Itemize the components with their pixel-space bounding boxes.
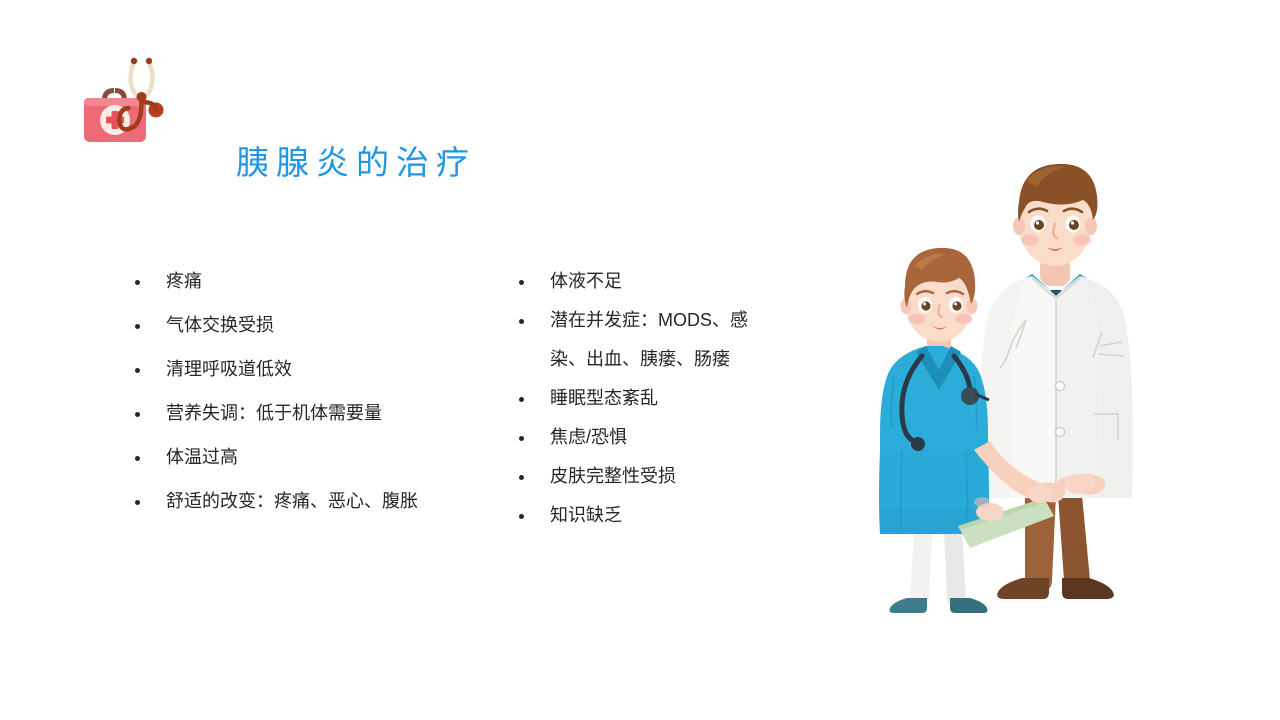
- right-bullet-list: 体液不足 潜在并发症：MODS、感 染、出血、胰瘘、肠瘘 睡眠型态紊乱 焦虑/恐…: [512, 262, 812, 535]
- list-item-line-2: 染、出血、胰瘘、肠瘘: [550, 340, 812, 379]
- list-item: 皮肤完整性受损: [512, 457, 812, 496]
- list-item: 气体交换受损: [128, 306, 498, 345]
- list-item: 体温过高: [128, 438, 498, 477]
- list-item: 清理呼吸道低效: [128, 350, 498, 389]
- list-item: 知识缺乏: [512, 496, 812, 535]
- slide-header: 胰腺炎的治疗: [72, 50, 592, 160]
- header-icon-group: [72, 50, 192, 150]
- list-item-label: 疼痛: [166, 262, 498, 301]
- left-column: 疼痛 气体交换受损 清理呼吸道低效 营养失调：低于机体需要量 体温过高 舒适的改…: [128, 262, 498, 526]
- list-item-label: 舒适的改变：疼痛、恶心、腹胀: [166, 482, 498, 521]
- header-icons-svg: [72, 50, 192, 150]
- list-item-label: 睡眠型态紊乱: [550, 379, 812, 418]
- list-item: 舒适的改变：疼痛、恶心、腹胀: [128, 482, 498, 521]
- list-item: 焦虑/恐惧: [512, 418, 812, 457]
- coat-button: [1055, 381, 1064, 390]
- slide-root: 胰腺炎的治疗 疼痛 气体交换受损 清理呼吸道低效 营养失调：低于机体需要量 体温…: [0, 0, 1280, 720]
- list-item-label: 清理呼吸道低效: [166, 350, 498, 389]
- doctor-and-nurse-illustration: [862, 150, 1152, 620]
- list-item-label: 营养失调：低于机体需要量: [166, 394, 498, 433]
- list-item: 睡眠型态紊乱: [512, 379, 812, 418]
- list-item-label: 体液不足: [550, 262, 812, 301]
- nurse-figure: [879, 248, 989, 613]
- list-item: 体液不足: [512, 262, 812, 301]
- left-bullet-list: 疼痛 气体交换受损 清理呼吸道低效 营养失调：低于机体需要量 体温过高 舒适的改…: [128, 262, 498, 521]
- coat-button: [1055, 427, 1064, 436]
- list-item-label: 气体交换受损: [166, 306, 498, 345]
- right-column: 体液不足 潜在并发症：MODS、感 染、出血、胰瘘、肠瘘 睡眠型态紊乱 焦虑/恐…: [512, 262, 812, 535]
- list-item-label: 体温过高: [166, 438, 498, 477]
- list-item: 疼痛: [128, 262, 498, 301]
- list-item-line-1: 潜在并发症：MODS、感: [550, 301, 812, 340]
- list-item: 潜在并发症：MODS、感 染、出血、胰瘘、肠瘘: [512, 301, 812, 379]
- list-item: 营养失调：低于机体需要量: [128, 394, 498, 433]
- list-item-label: 潜在并发症：MODS、感 染、出血、胰瘘、肠瘘: [550, 301, 812, 379]
- illustration-svg: [862, 150, 1152, 620]
- list-item-label: 知识缺乏: [550, 496, 812, 535]
- stethoscope-earpiece: [911, 437, 925, 451]
- page-title: 胰腺炎的治疗: [236, 146, 476, 179]
- list-item-label: 焦虑/恐惧: [550, 418, 812, 457]
- list-item-label: 皮肤完整性受损: [550, 457, 812, 496]
